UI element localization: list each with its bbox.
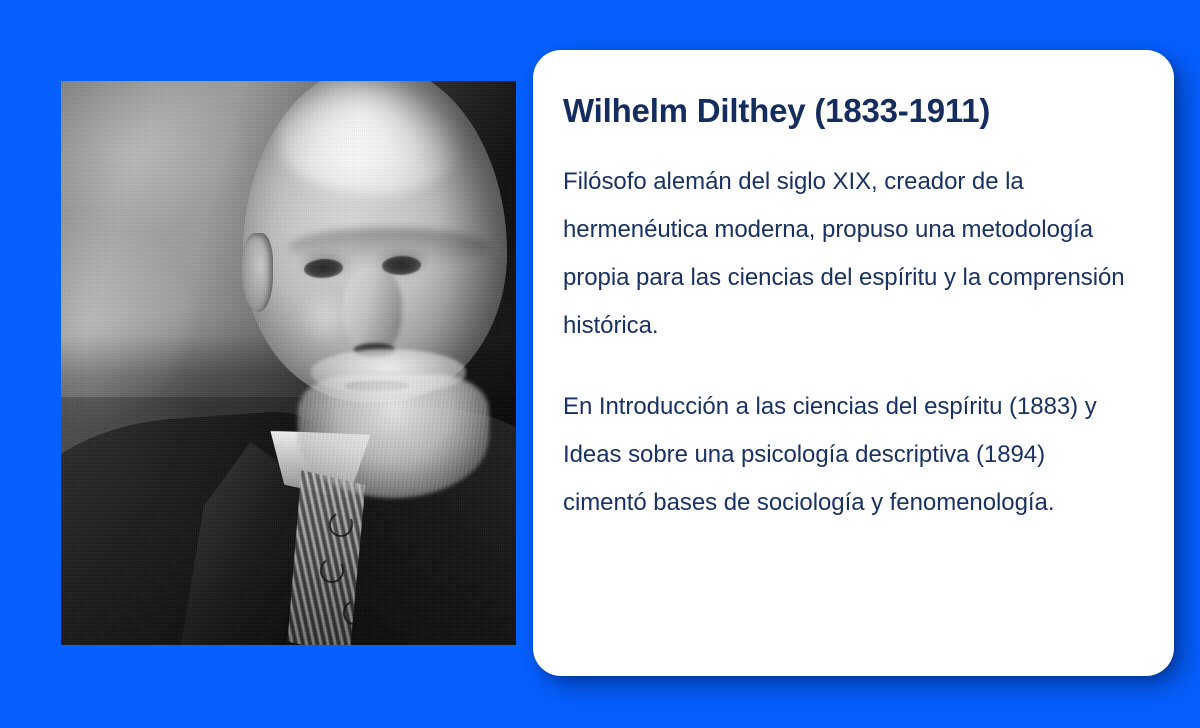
biography-card: Wilhelm Dilthey (1833-1911) Filósofo ale…	[533, 50, 1174, 676]
biography-paragraph-2: En Introducción a las ciencias del espír…	[563, 383, 1126, 527]
portrait-photo	[61, 81, 516, 645]
page-title: Wilhelm Dilthey (1833-1911)	[563, 92, 1126, 131]
photo-grain	[61, 81, 516, 645]
portrait-illustration	[61, 81, 516, 645]
biography-card-content: Wilhelm Dilthey (1833-1911) Filósofo ale…	[563, 92, 1126, 527]
biography-paragraph-1: Filósofo alemán del siglo XIX, creador d…	[563, 158, 1126, 350]
slide-canvas: Wilhelm Dilthey (1833-1911) Filósofo ale…	[0, 0, 1200, 728]
